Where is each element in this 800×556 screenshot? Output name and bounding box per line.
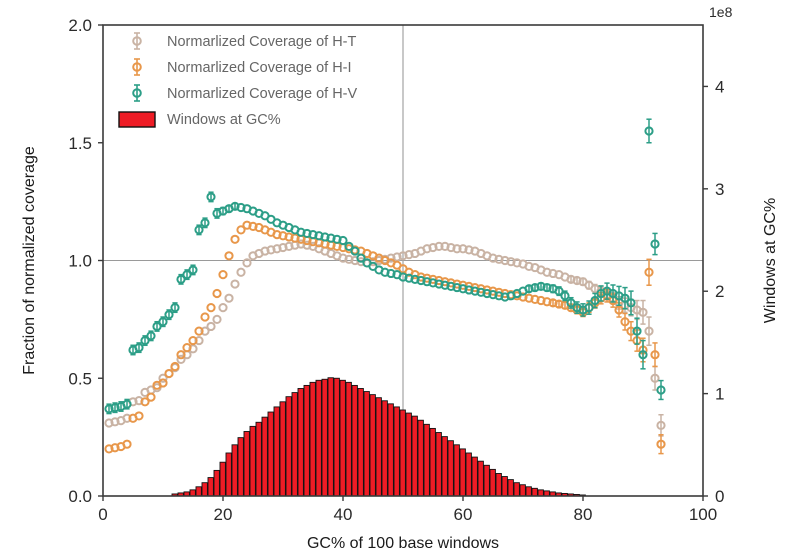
ytick-label-left: 1.5 [68, 134, 92, 153]
histogram-bar [364, 392, 369, 496]
ytick-label-right: 1 [715, 385, 724, 404]
x-axis-title: GC% of 100 base windows [307, 535, 499, 552]
histogram-bar [466, 453, 471, 496]
histogram-bar [232, 445, 237, 496]
xtick-label: 20 [214, 505, 233, 524]
histogram-bar [538, 490, 543, 496]
histogram-bar [478, 461, 483, 496]
histogram-bar [304, 385, 309, 496]
ytick-label-right: 0 [715, 487, 724, 506]
legend-label: Windows at GC% [167, 112, 281, 128]
histogram-bar [316, 380, 321, 496]
histogram-bar [268, 412, 273, 496]
ytick-label-left: 0.5 [68, 369, 92, 388]
histogram-bar [508, 480, 513, 496]
histogram-bar [388, 404, 393, 496]
ytick-label-right: 4 [715, 77, 724, 96]
histogram-bar [424, 424, 429, 496]
histogram-bar [502, 477, 507, 496]
histogram-bar [286, 397, 291, 496]
ytick-label-right: 3 [715, 180, 724, 199]
histogram-bar [238, 438, 243, 496]
histogram-bar [496, 473, 501, 496]
histogram-bar [244, 431, 249, 496]
histogram-bar [292, 393, 297, 496]
histogram-bar [280, 402, 285, 496]
histogram-bar [394, 407, 399, 496]
ytick-label-left: 2.0 [68, 16, 92, 35]
plot-root: 0.00.51.01.52.0012340204060801001e8GC% o… [21, 4, 779, 552]
legend-label: Normarlized Coverage of H-I [167, 60, 352, 76]
xtick-label: 100 [689, 505, 717, 524]
histogram-bar [406, 413, 411, 496]
histogram-bar [262, 417, 267, 496]
histogram-bar [418, 420, 423, 496]
histogram-bar [448, 441, 453, 496]
histogram-bar [442, 437, 447, 496]
histogram-bar [208, 478, 213, 496]
histogram-bar [274, 407, 279, 496]
histogram-bar [472, 457, 477, 496]
histogram-bar [490, 469, 495, 496]
histogram-bar [532, 488, 537, 496]
histogram-bar [358, 388, 363, 496]
histogram-bar [214, 470, 219, 496]
histogram-bar [454, 445, 459, 496]
histogram-bar [346, 382, 351, 496]
histogram-bar [430, 428, 435, 496]
y-axis-title-left: Fraction of normalized coverage [21, 146, 38, 375]
histogram-bar [196, 487, 201, 496]
histogram-bar [202, 483, 207, 496]
histogram-bar [220, 462, 225, 496]
histogram-bar [298, 388, 303, 496]
histogram-bar [352, 385, 357, 496]
histogram-bar [340, 380, 345, 496]
histogram-bar [526, 487, 531, 496]
ytick-label-left: 0.0 [68, 487, 92, 506]
histogram-bar [400, 410, 405, 496]
histogram-bar [382, 401, 387, 496]
histogram-bar [412, 416, 417, 496]
histogram-bar [256, 422, 261, 496]
histogram-bar [328, 378, 333, 496]
histogram-bar [250, 426, 255, 496]
histogram-bar [514, 483, 519, 496]
legend-label: Normarlized Coverage of H-V [167, 86, 358, 102]
right-axis-exponent: 1e8 [709, 4, 733, 20]
ytick-label-left: 1.0 [68, 252, 92, 271]
histogram-bar [484, 465, 489, 496]
histogram-bar [226, 453, 231, 496]
xtick-label: 0 [98, 505, 107, 524]
histogram-bar [190, 490, 195, 496]
xtick-label: 80 [574, 505, 593, 524]
coverage-gc-chart: 0.00.51.01.52.0012340204060801001e8GC% o… [0, 0, 800, 556]
histogram-bar [520, 485, 525, 496]
histogram-bar [322, 379, 327, 496]
histogram-bar [310, 382, 315, 496]
y-axis-title-right: Windows at GC% [762, 198, 779, 323]
histogram-bar [334, 378, 339, 496]
histogram-bar [436, 433, 441, 496]
ytick-label-right: 2 [715, 282, 724, 301]
legend-swatch-histogram [119, 112, 155, 127]
histogram-bar [370, 395, 375, 496]
histogram-bar [460, 449, 465, 496]
xtick-label: 40 [334, 505, 353, 524]
histogram-bar [376, 398, 381, 496]
xtick-label: 60 [454, 505, 473, 524]
legend-label: Normarlized Coverage of H-T [167, 34, 357, 50]
